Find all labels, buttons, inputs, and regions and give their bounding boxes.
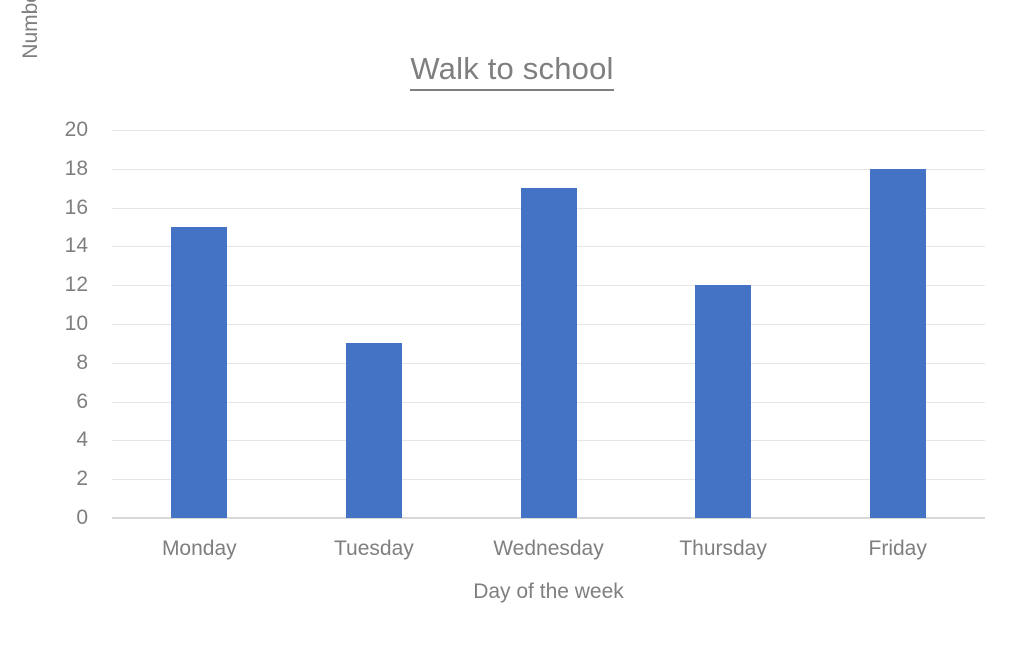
y-tick-label: 18 <box>0 157 88 181</box>
bar[interactable] <box>171 227 227 518</box>
x-tick-label: Friday <box>810 532 985 566</box>
x-tick-label: Tuesday <box>287 532 462 566</box>
bars-group <box>112 130 985 518</box>
x-tick-label: Thursday <box>636 532 811 566</box>
y-tick-label: 4 <box>0 428 88 452</box>
y-tick-label: 2 <box>0 467 88 491</box>
bar[interactable] <box>346 343 402 518</box>
x-axis-title: Day of the week <box>112 578 985 606</box>
x-axis-tick-labels: MondayTuesdayWednesdayThursdayFriday <box>112 532 985 566</box>
x-tick-label: Monday <box>112 532 287 566</box>
bar[interactable] <box>870 169 926 518</box>
chart-title: Walk to school <box>0 50 1024 88</box>
y-tick-label: 0 <box>0 506 88 530</box>
bar-chart: Walk to school Number of children 201816… <box>0 0 1024 646</box>
y-tick-label: 10 <box>0 312 88 336</box>
y-tick-label: 14 <box>0 234 88 258</box>
plot-area <box>112 130 985 518</box>
y-tick-label: 12 <box>0 273 88 297</box>
y-tick-label: 20 <box>0 118 88 142</box>
x-tick-label: Wednesday <box>461 532 636 566</box>
chart-title-text: Walk to school <box>410 51 613 91</box>
bar[interactable] <box>695 285 751 518</box>
y-tick-label: 8 <box>0 351 88 375</box>
y-tick-label: 6 <box>0 390 88 414</box>
bar[interactable] <box>521 188 577 518</box>
y-axis-tick-labels: 20181614121086420 <box>0 130 100 518</box>
y-tick-label: 16 <box>0 196 88 220</box>
